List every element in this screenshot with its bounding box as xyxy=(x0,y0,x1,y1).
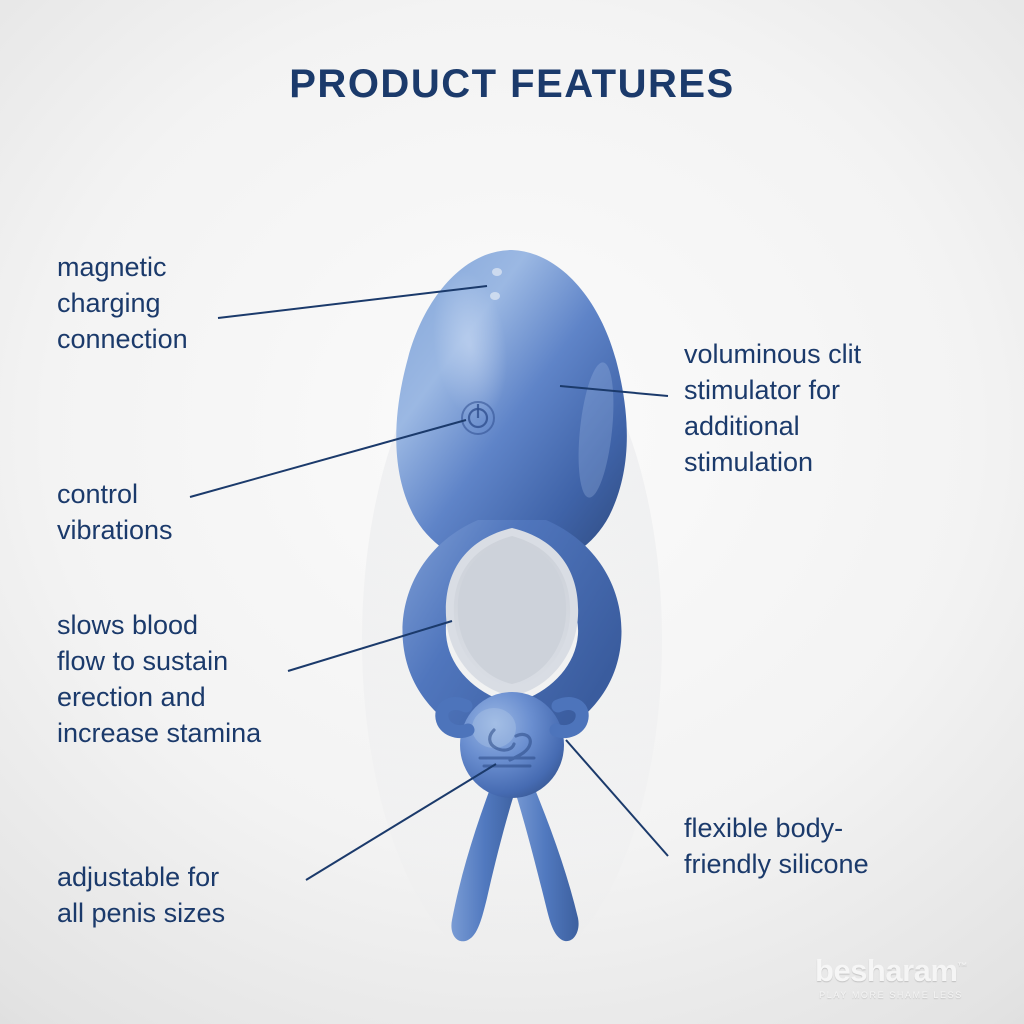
callout-clit-stimulator-line-3: additional xyxy=(684,409,861,445)
callout-magnetic-charging-line-2: charging xyxy=(57,286,188,322)
callout-adjustable-sizes-line-1: adjustable for xyxy=(57,860,225,896)
callout-adjustable-sizes-line-2: all penis sizes xyxy=(57,896,225,932)
callout-slows-blood-flow-line-2: flow to sustain xyxy=(57,644,261,680)
callout-flexible-silicone-line-2: friendly silicone xyxy=(684,847,869,883)
callout-clit-stimulator: voluminous clit stimulator for additiona… xyxy=(684,337,861,481)
callout-slows-blood-flow-line-3: erection and xyxy=(57,680,261,716)
callout-clit-stimulator-line-4: stimulation xyxy=(684,445,861,481)
callout-clit-stimulator-line-2: stimulator for xyxy=(684,373,861,409)
callout-magnetic-charging-line-1: magnetic xyxy=(57,250,188,286)
callout-magnetic-charging-line-3: connection xyxy=(57,322,188,358)
brand-name: besharam™ xyxy=(786,953,996,989)
callout-magnetic-charging: magnetic charging connection xyxy=(57,250,188,358)
callout-flexible-silicone-line-1: flexible body- xyxy=(684,811,869,847)
callout-flexible-silicone: flexible body- friendly silicone xyxy=(684,811,869,883)
callout-control-vibrations-line-2: vibrations xyxy=(57,513,173,549)
product-features-infographic: PRODUCT FEATURES xyxy=(0,0,1024,1024)
callout-slows-blood-flow-line-4: increase stamina xyxy=(57,716,261,752)
callout-control-vibrations: control vibrations xyxy=(57,477,173,549)
callout-clit-stimulator-line-1: voluminous clit xyxy=(684,337,861,373)
callout-slows-blood-flow: slows blood flow to sustain erection and… xyxy=(57,608,261,752)
callout-slows-blood-flow-line-1: slows blood xyxy=(57,608,261,644)
brand-logo: besharam™ PLAY MORE SHAME LESS xyxy=(786,953,996,1000)
callout-adjustable-sizes: adjustable for all penis sizes xyxy=(57,860,225,932)
brand-tagline: PLAY MORE SHAME LESS xyxy=(786,990,996,1000)
callout-control-vibrations-line-1: control xyxy=(57,477,173,513)
